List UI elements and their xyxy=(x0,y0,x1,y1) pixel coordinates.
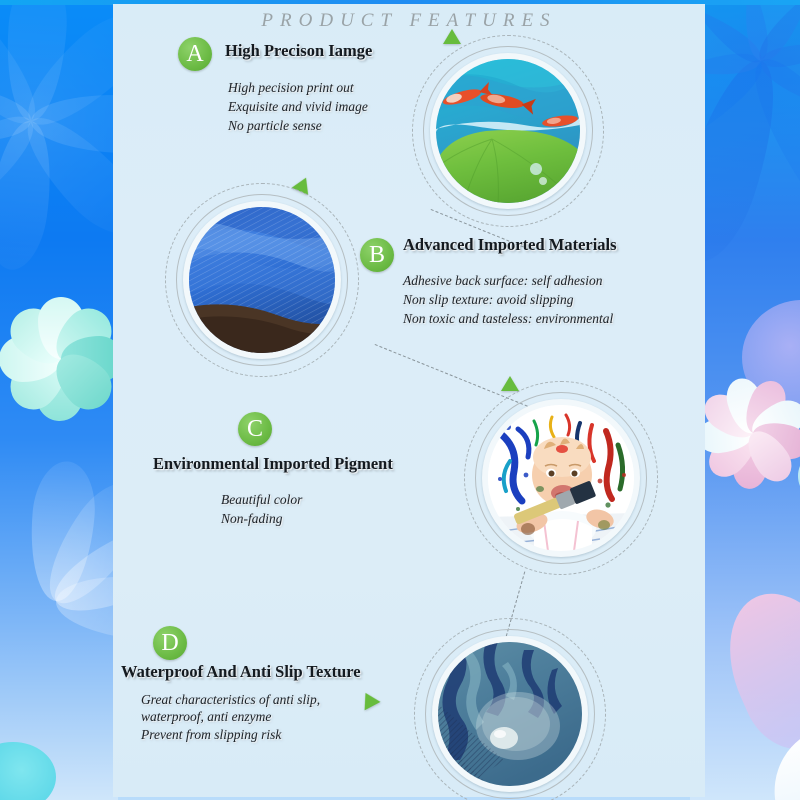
feature-lines-b-2: Non slip texture: avoid slipping xyxy=(403,290,573,309)
page-title: PRODUCT FEATURES xyxy=(113,10,705,32)
feature-badge-a: A xyxy=(178,37,212,71)
feature-heading-a: High Precison Iamge xyxy=(225,41,372,61)
left-cyan-blob xyxy=(0,742,56,800)
feature-heading-d: Waterproof And Anti Slip Texture xyxy=(121,662,361,682)
feature-lines-c-2: Non-fading xyxy=(221,509,283,528)
feature-badge-d: D xyxy=(153,626,187,660)
feature-lines-a-3: No particle sense xyxy=(228,116,322,135)
left-large-petal-flower-faint xyxy=(30,120,31,121)
koi-fish-pond-print-photo xyxy=(436,59,580,203)
feature-arrow-a xyxy=(443,29,461,44)
feature-lines-a-1: High pecision print out xyxy=(228,78,354,97)
feature-photo-b xyxy=(176,194,348,366)
feature-photo-a xyxy=(423,46,593,216)
feature-arrow-c xyxy=(501,376,519,391)
feature-photo-c xyxy=(475,392,647,564)
right-pink-petal-flower xyxy=(752,432,753,433)
feature-lines-b-3: Non toxic and tasteless: environmental xyxy=(403,309,613,328)
waterproof-textured-surface-photo xyxy=(438,642,582,786)
infographic-canvas: PRODUCT FEATURES A High Precison Iamge H… xyxy=(0,0,800,800)
right-pink-large-petal xyxy=(706,575,800,766)
feature-lines-b-1: Adhesive back surface: self adhesion xyxy=(403,271,602,290)
feature-lines-c-1: Beautiful color xyxy=(221,490,302,509)
feature-lines-d-2: waterproof, anti enzyme xyxy=(141,707,271,726)
baby-with-paint-brush-photo xyxy=(488,405,634,551)
right-top-ray-flower xyxy=(760,60,761,61)
feature-lines-d-3: Prevent from slipping risk xyxy=(141,725,281,744)
feature-lines-a-2: Exquisite and vivid image xyxy=(228,97,368,116)
feature-heading-c: Environmental Imported Pigment xyxy=(153,454,393,474)
feature-badge-b: B xyxy=(360,238,394,272)
feature-photo-d xyxy=(425,629,595,799)
right-decorative-band xyxy=(690,0,800,800)
blue-ribbed-fabric-photo xyxy=(189,207,335,353)
feature-badge-c: C xyxy=(238,412,272,446)
content-panel: PRODUCT FEATURES A High Precison Iamge H… xyxy=(113,4,705,797)
left-lower-petal-flower-soft xyxy=(55,600,56,601)
feature-arrow-d xyxy=(358,689,381,711)
feature-heading-b: Advanced Imported Materials xyxy=(403,235,617,255)
left-decorative-band xyxy=(0,0,118,800)
left-cyan-petal-flower xyxy=(60,358,61,359)
